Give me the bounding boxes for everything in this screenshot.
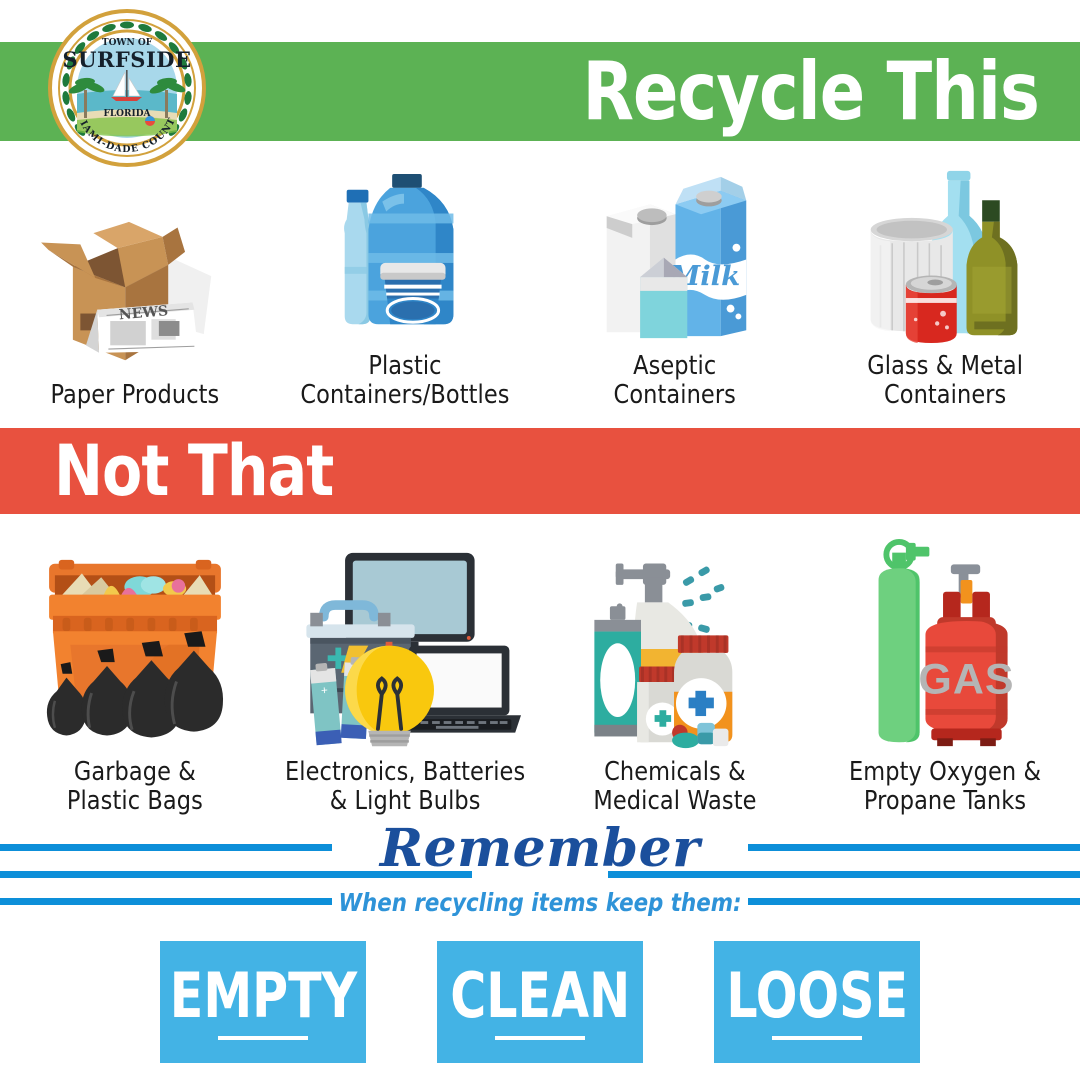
not-item-label: Electronics, Batteries & Light Bulbs: [285, 758, 525, 816]
keyword-box-empty: EMPTY: [160, 941, 366, 1063]
recycle-items-row: NEWS Paper Products: [0, 160, 1080, 410]
keyword-box-clean: CLEAN: [437, 941, 643, 1063]
keyword-underline: [772, 1036, 862, 1040]
seal-florida-text: FLORIDA: [103, 109, 151, 119]
cardboard-box-and-newspaper-icon: NEWS: [0, 195, 270, 375]
battery-plus-symbol: +: [321, 684, 329, 698]
keyword-underline: [495, 1036, 585, 1040]
recycle-item-paper-products: NEWS Paper Products: [0, 160, 270, 410]
aerosol-can: [594, 603, 641, 736]
recycle-item-label: Aseptic Containers: [614, 352, 736, 410]
dumpster-and-garbage-bags-icon: [0, 537, 270, 752]
remember-heading: Remember: [0, 818, 1080, 879]
oxygen-and-gas-tank-icon: OXYGEN GAS: [810, 537, 1080, 752]
not-item-label: Empty Oxygen & Propane Tanks: [849, 758, 1041, 816]
not-that-items-row: Garbage & Plastic Bags: [0, 516, 1080, 816]
keyword-underline: [218, 1036, 308, 1040]
plastic-jug-and-bottles-icon: [270, 166, 540, 346]
soda-can: [906, 275, 957, 342]
not-item-label: Garbage & Plastic Bags: [67, 758, 203, 816]
not-item-tanks: OXYGEN GAS: [810, 516, 1080, 816]
not-that-band: Not That: [0, 428, 1080, 514]
not-item-garbage-bags: Garbage & Plastic Bags: [0, 516, 270, 816]
recycle-item-aseptic-containers: Milk Aseptic Containers: [540, 160, 810, 410]
recycle-item-label: Plastic Containers/Bottles: [300, 352, 509, 410]
recycle-item-label: Glass & Metal Containers: [867, 352, 1023, 410]
remember-section: Remember When recycling items keep them:: [0, 826, 1080, 930]
keyword-boxes: EMPTY CLEAN LOOSE: [0, 941, 1080, 1063]
not-item-electronics: + +: [270, 516, 540, 816]
recycle-item-plastic-containers: Plastic Containers/Bottles: [270, 160, 540, 410]
glass-bottles-and-cans-icon: [810, 166, 1080, 346]
plastic-tub: [380, 263, 445, 324]
keyword-label: LOOSE: [726, 965, 908, 1027]
keyword-label: EMPTY: [169, 965, 356, 1027]
not-item-label: Chemicals & Medical Waste: [593, 758, 756, 816]
milk-cartons-icon: Milk: [540, 166, 810, 346]
not-item-chemicals: Chemicals & Medical Waste: [540, 516, 810, 816]
recycle-item-label: Paper Products: [51, 381, 220, 410]
not-that-title: Not That: [0, 436, 333, 506]
gas-propane-tank: GAS: [918, 564, 1014, 746]
computer-battery-lightbulb-icon: + +: [270, 537, 540, 752]
seal-surfside-text: SURFSIDE: [62, 47, 191, 72]
keyword-box-loose: LOOSE: [714, 941, 920, 1063]
recycle-this-title: Recycle This: [583, 52, 1080, 132]
recycle-item-glass-metal: Glass & Metal Containers: [810, 160, 1080, 410]
plastic-bottle: [344, 190, 371, 324]
gas-tank-label: GAS: [918, 655, 1014, 703]
town-of-surfside-seal: TOWN OF SURFSIDE FLORIDA MIAMI-DADE COUN…: [47, 8, 207, 168]
remember-subheading: When recycling items keep them:: [27, 888, 1053, 917]
chemical-bottles-and-medicine-icon: [540, 537, 810, 752]
keyword-label: CLEAN: [450, 965, 630, 1027]
